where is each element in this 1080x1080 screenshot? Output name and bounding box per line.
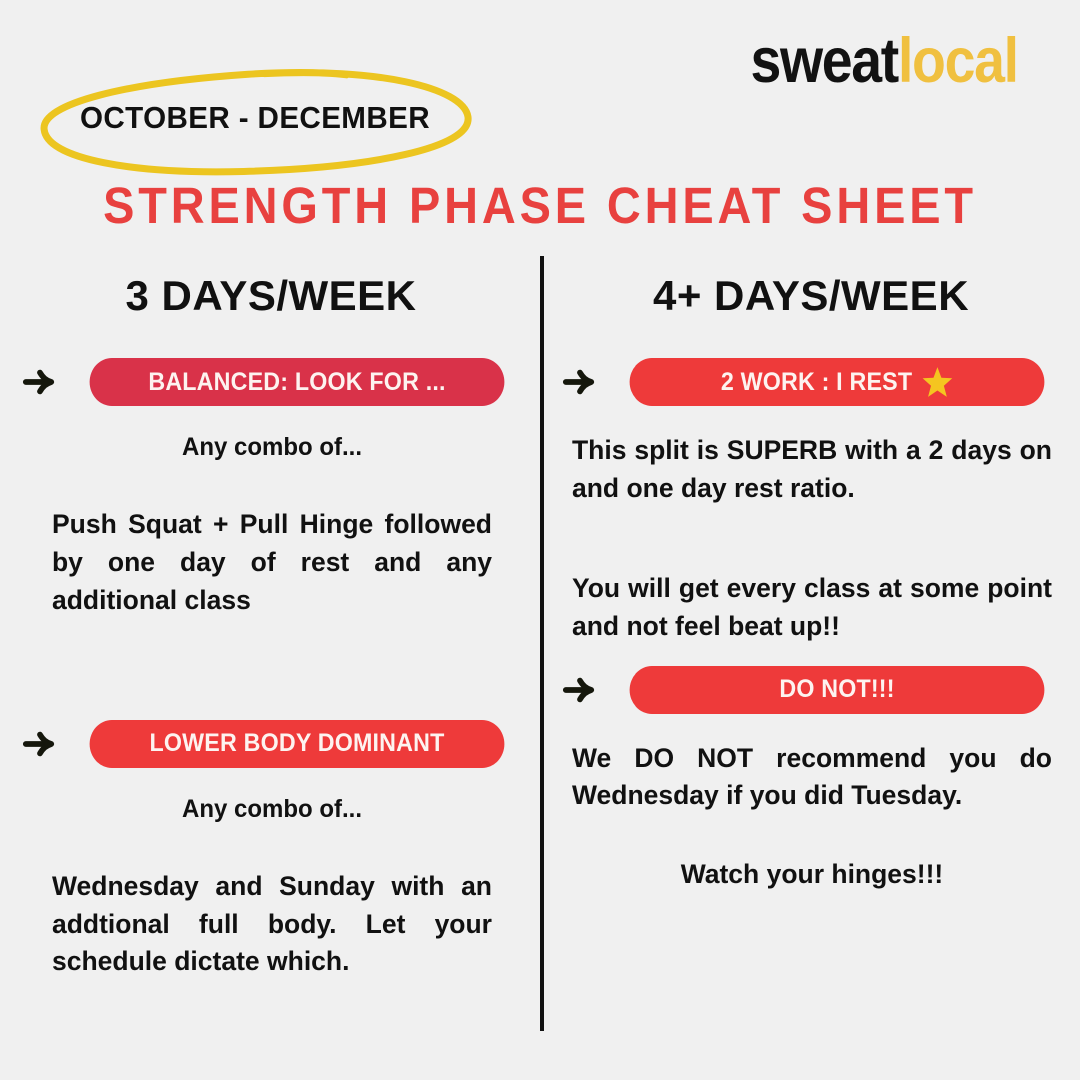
page-title: STRENGTH PHASE CHEAT SHEET (43, 176, 1037, 235)
brand-logo: sweatlocal (751, 30, 1018, 93)
date-range-badge: OCTOBER - DECEMBER (36, 68, 476, 176)
arrow-right-icon (22, 727, 56, 761)
section-do-not: DO NOT!!! We DO NOT recommend you do Wed… (562, 666, 1060, 891)
pill-row-balanced: BALANCED: LOOK FOR ... (22, 358, 520, 406)
2work-1rest-body: This split is SUPERB with a 2 days on an… (562, 432, 1060, 646)
star-icon (922, 365, 954, 399)
lower-body-subtitle: Any combo of... (61, 795, 483, 824)
balanced-paragraph-1: Push Squat + Pull Hinge followed by one … (52, 506, 492, 620)
column-3-days: 3 DAYS/WEEK BALANCED: LOOK FOR ... Any c… (22, 272, 520, 981)
pill-do-not-label: DO NOT!!! (779, 675, 894, 704)
do-not-body: We DO NOT recommend you do Wednesday if … (562, 740, 1060, 891)
brand-logo-sweat: sweat (751, 26, 898, 96)
pill-row-2work-1rest: 2 WORK : I REST (562, 358, 1060, 406)
brand-logo-local: local (898, 26, 1018, 96)
column-4plus-days: 4+ DAYS/WEEK 2 WORK : I REST This split … (562, 272, 1060, 890)
pill-row-do-not: DO NOT!!! (562, 666, 1060, 714)
right-section-spacer (562, 646, 1060, 666)
arrow-right-icon (562, 365, 596, 399)
pill-2work-1rest-label: 2 WORK : I REST (721, 368, 912, 397)
pill-balanced-label: BALANCED: LOOK FOR ... (148, 368, 445, 397)
pill-lower-body-label: LOWER BODY DOMINANT (149, 729, 444, 758)
balanced-body: Any combo of... Push Squat + Pull Hinge … (22, 433, 520, 620)
column-heading-right: 4+ DAYS/WEEK (562, 272, 1060, 320)
pill-2work-1rest[interactable]: 2 WORK : I REST (630, 358, 1045, 406)
do-not-paragraph-1: We DO NOT recommend you do Wednesday if … (572, 740, 1052, 816)
do-not-center-note: Watch your hinges!!! (572, 859, 1052, 890)
pill-do-not[interactable]: DO NOT!!! (630, 666, 1045, 714)
2work-1rest-paragraph-1: This split is SUPERB with a 2 days on an… (572, 432, 1052, 508)
section-balanced: BALANCED: LOOK FOR ... Any combo of... P… (22, 358, 520, 620)
section-lower-body-dominant: LOWER BODY DOMINANT Any combo of... Wedn… (22, 720, 520, 982)
pill-lower-body-dominant[interactable]: LOWER BODY DOMINANT (90, 720, 505, 768)
2work-1rest-paragraph-2: You will get every class at some point a… (572, 570, 1052, 646)
column-divider (540, 256, 544, 1031)
pill-balanced[interactable]: BALANCED: LOOK FOR ... (90, 358, 505, 406)
cheat-sheet-poster: sweatlocal OCTOBER - DECEMBER STRENGTH P… (0, 0, 1080, 1080)
date-range-label: OCTOBER - DECEMBER (80, 101, 430, 136)
arrow-right-icon (562, 673, 596, 707)
section-2work-1rest: 2 WORK : I REST This split is SUPERB wit… (562, 358, 1060, 646)
left-section-spacer (22, 620, 520, 720)
pill-row-lower-body: LOWER BODY DOMINANT (22, 720, 520, 768)
lower-body-paragraph-1: Wednesday and Sunday with an addtional f… (52, 868, 492, 982)
arrow-right-icon (22, 365, 56, 399)
balanced-subtitle: Any combo of... (61, 433, 483, 462)
column-heading-left: 3 DAYS/WEEK (22, 272, 520, 320)
lower-body-body: Any combo of... Wednesday and Sunday wit… (22, 795, 520, 982)
